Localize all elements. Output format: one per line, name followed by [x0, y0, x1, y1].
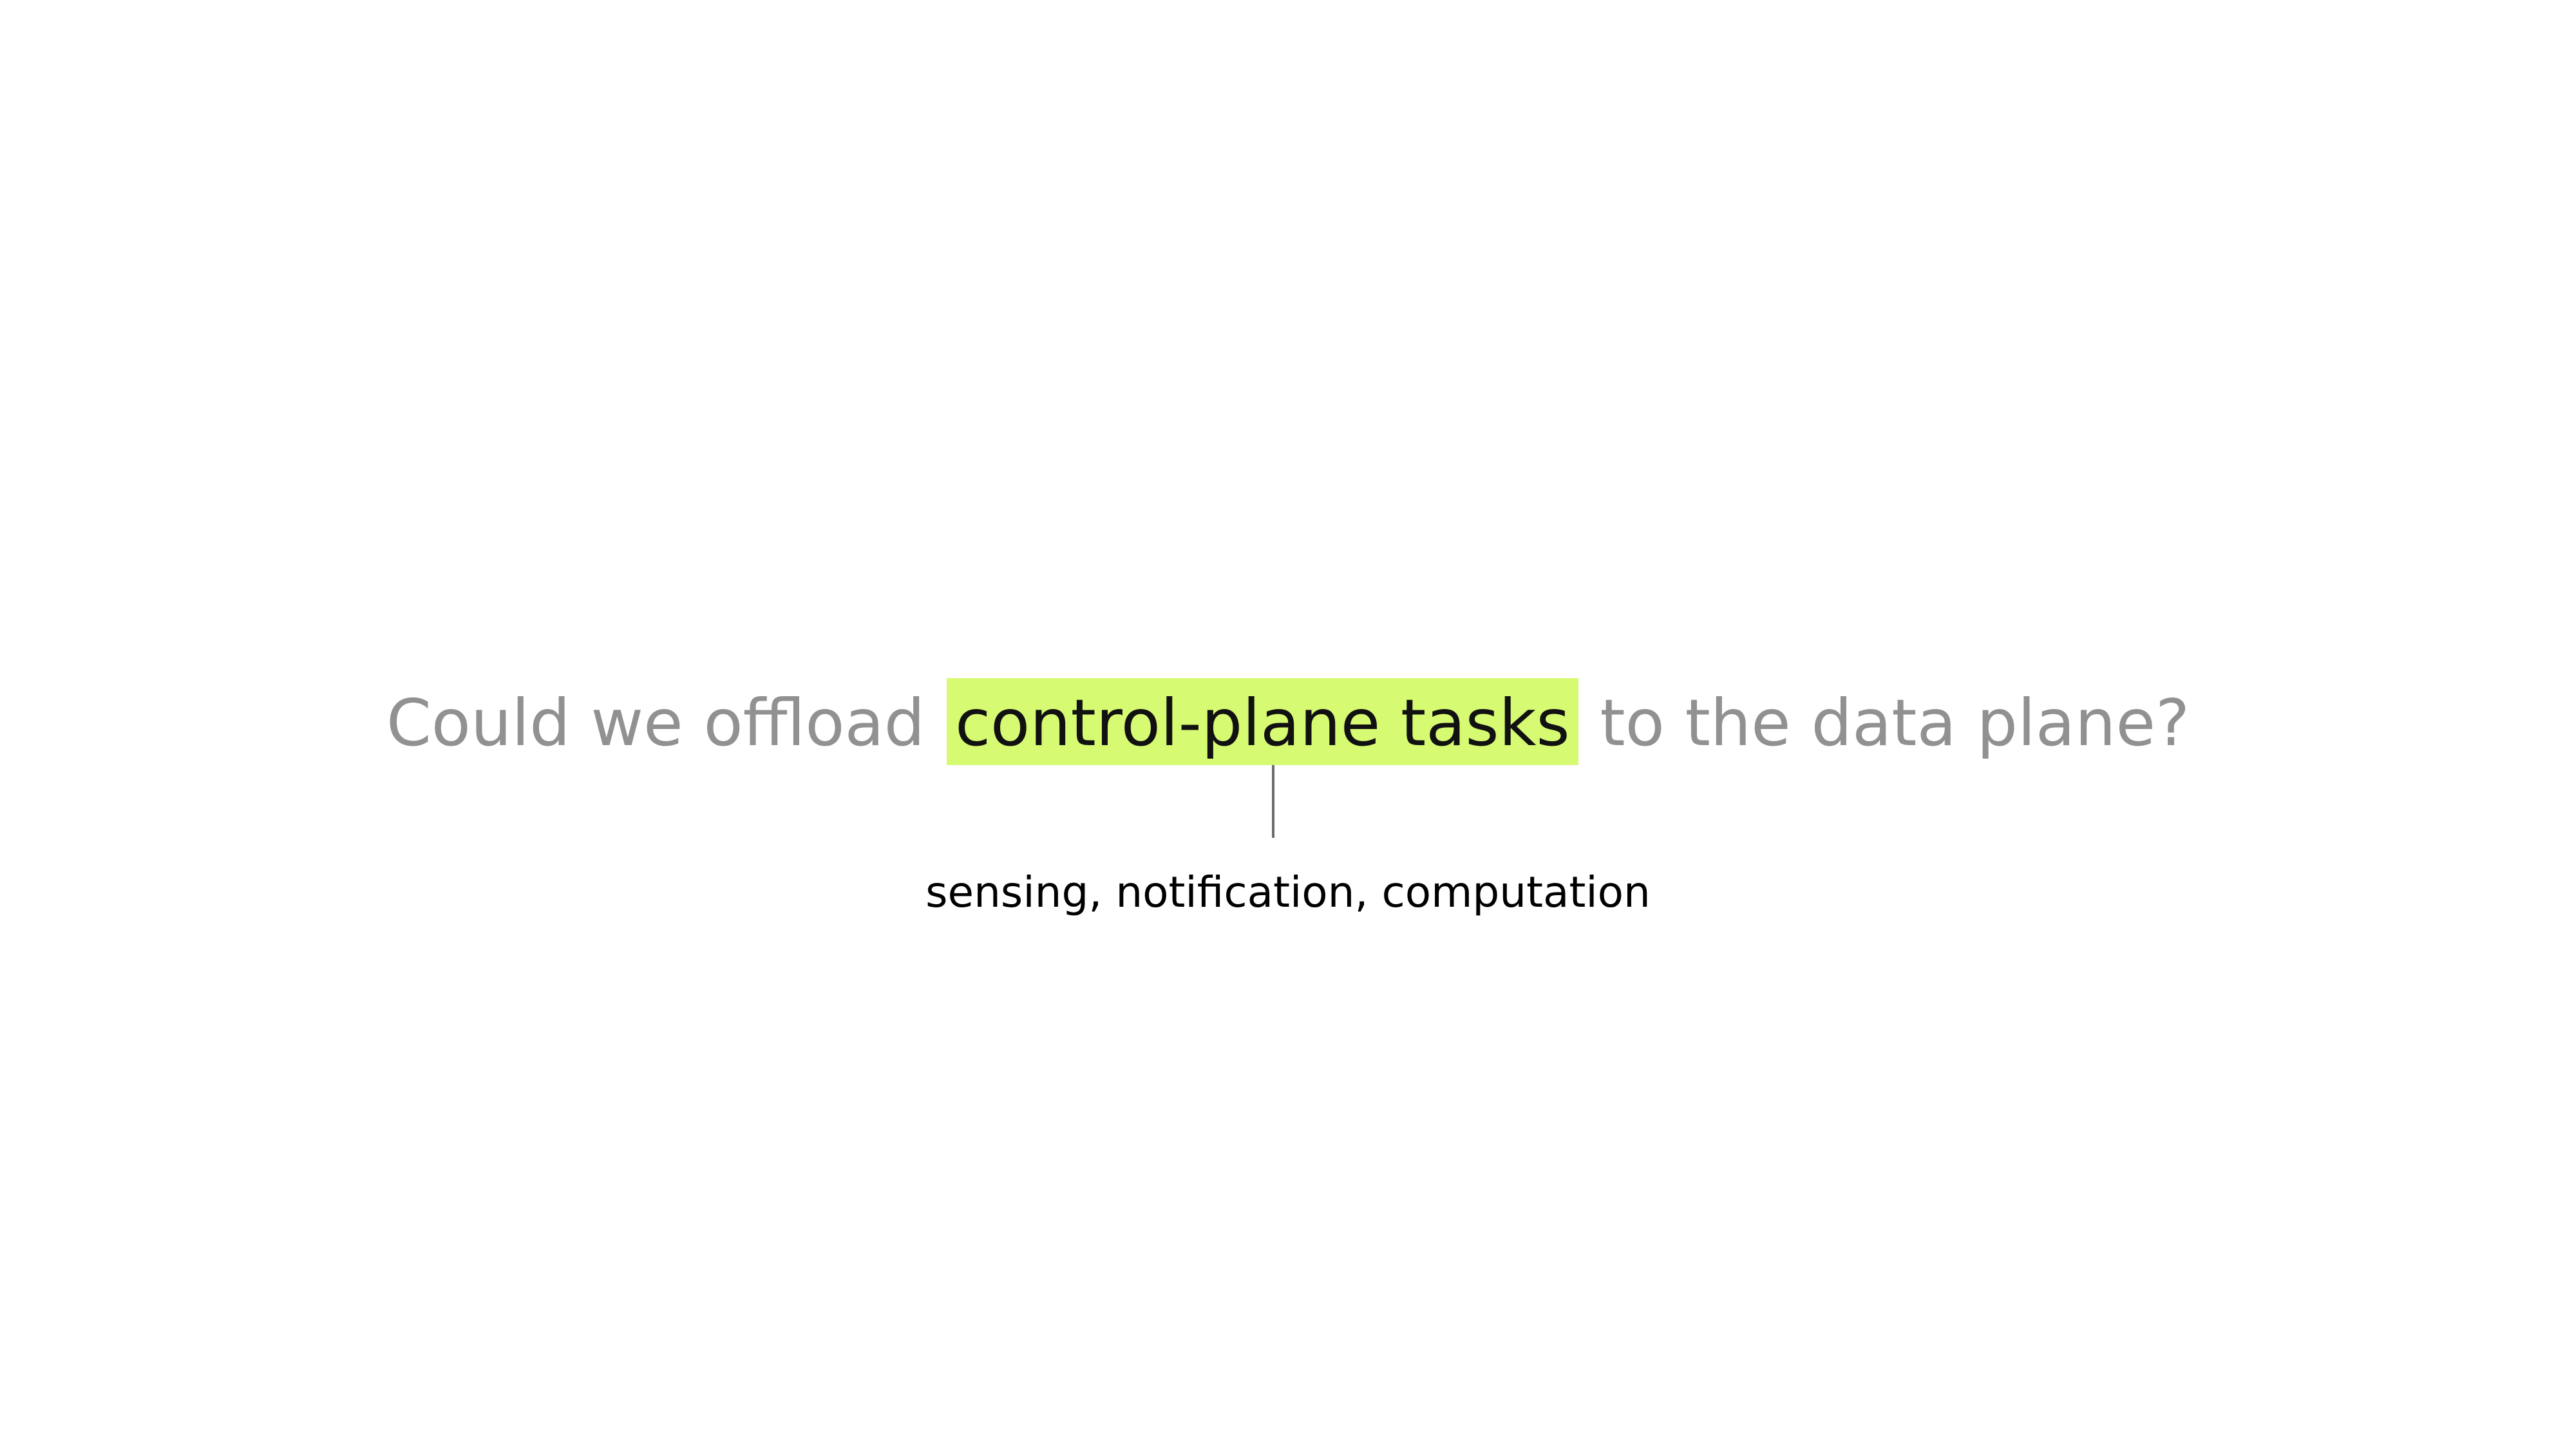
headline: Could we offload control-plane tasks to …	[0, 681, 2576, 765]
annotation-caption: sensing, notification, computation	[0, 865, 2576, 920]
headline-text-before: Could we offload	[386, 685, 945, 761]
headline-highlighted-phrase: control-plane tasks	[947, 678, 1578, 765]
headline-text-after: to the data plane?	[1580, 685, 2190, 761]
annotation-connector-line	[1272, 765, 1274, 838]
slide-canvas: Could we offload control-plane tasks to …	[0, 0, 2576, 1449]
